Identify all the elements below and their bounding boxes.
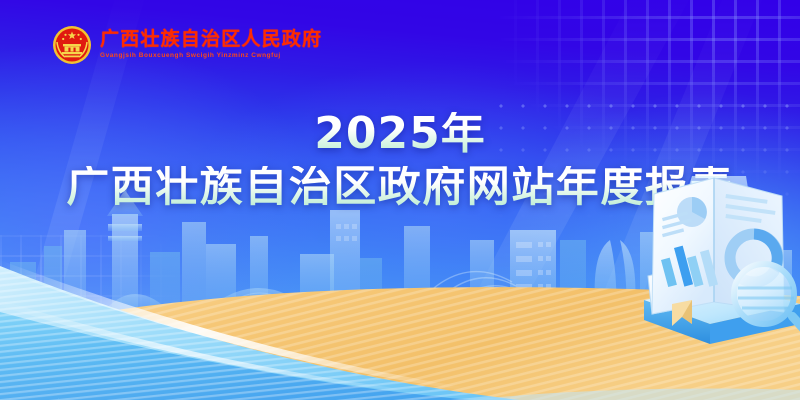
annual-report-book-illustration	[614, 172, 800, 362]
china-national-emblem-icon	[52, 25, 92, 65]
logo-text-block: 广西壮族自治区人民政府 Gvangjsih Bouxcuengh Swcigih…	[100, 30, 322, 60]
headline-year: 2025年	[0, 112, 800, 156]
logo-subtitle: Gvangjsih Bouxcuengh Swcigih Yinzminz Cw…	[100, 53, 322, 59]
government-annual-report-banner: 广西壮族自治区人民政府 Gvangjsih Bouxcuengh Swcigih…	[0, 0, 800, 400]
logo-title: 广西壮族自治区人民政府	[100, 30, 322, 49]
government-logo[interactable]: 广西壮族自治区人民政府 Gvangjsih Bouxcuengh Swcigih…	[52, 24, 322, 66]
